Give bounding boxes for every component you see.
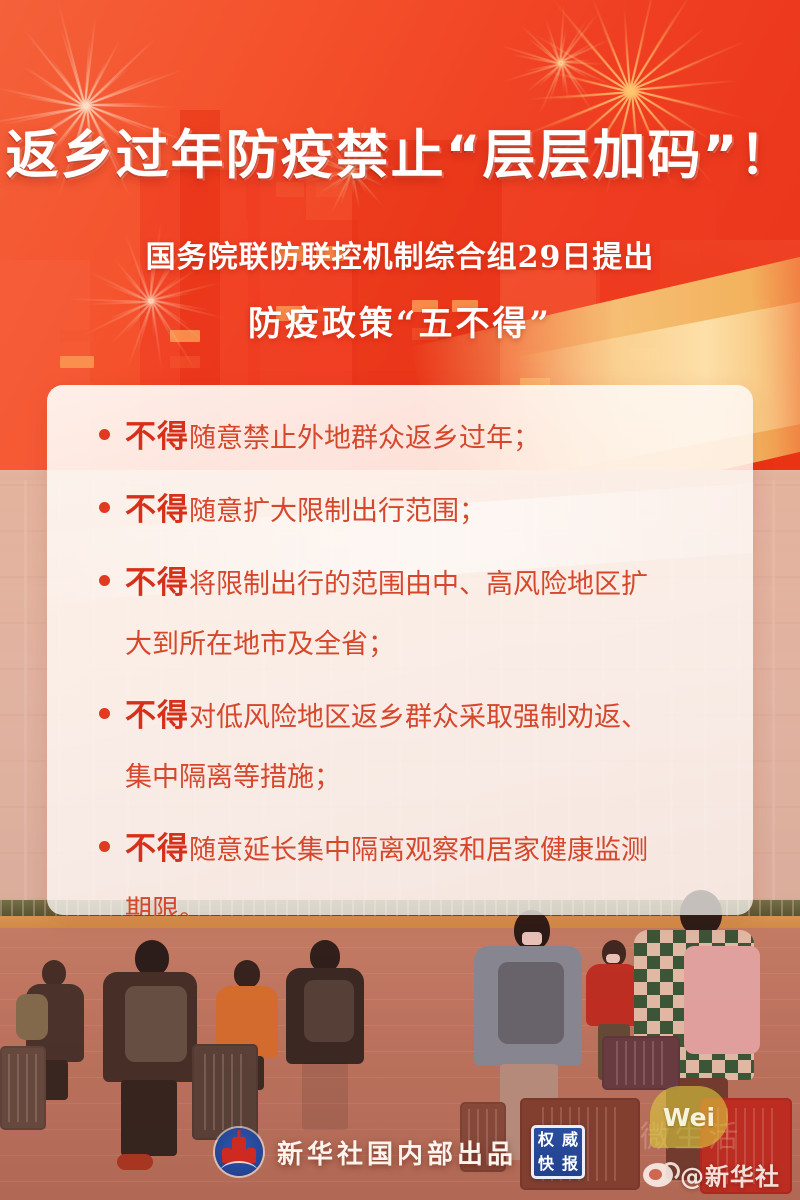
policy-line: 不得将限制出行的范围由中、高风险地区扩 [125, 553, 737, 615]
policy-line: 期限。 [125, 881, 737, 915]
subtitle-line-2: 防疫政策“五不得” [0, 296, 800, 345]
subtitle-line-1: 国务院联防联控机制综合组29日提出 [0, 232, 800, 276]
seal-char: 快 [538, 1156, 554, 1172]
policy-emphasis: 不得 [125, 492, 189, 528]
policy-text: 对低风险地区返乡群众采取强制劝返、 [189, 702, 648, 733]
policy-line: 集中隔离等措施； [125, 748, 737, 808]
policy-emphasis: 不得 [125, 698, 189, 734]
seal-char: 报 [562, 1156, 578, 1172]
bullet-dot-icon [99, 575, 110, 586]
policy-text: 随意禁止外地群众返乡过年； [189, 423, 540, 454]
policy-item: 不得随意扩大限制出行范围； [73, 480, 737, 542]
policy-item: 不得随意延长集中隔离观察和居家健康监测期限。 [73, 819, 737, 915]
policy-text: 将限制出行的范围由中、高风险地区扩 [189, 569, 648, 600]
policy-emphasis: 不得 [125, 831, 189, 867]
bullet-dot-icon [99, 708, 110, 719]
policy-line: 不得对低风险地区返乡群众采取强制劝返、 [125, 686, 737, 748]
authority-express-seal-icon: 权威快报 [531, 1125, 585, 1179]
policy-item: 不得将限制出行的范围由中、高风险地区扩大到所在地市及全省； [73, 553, 737, 675]
weibo-watermark: @新华社 [643, 1157, 780, 1192]
policy-item: 不得对低风险地区返乡群众采取强制劝返、集中隔离等措施； [73, 686, 737, 808]
policy-line: 不得随意延长集中隔离观察和居家健康监测 [125, 819, 737, 881]
policy-list: 不得随意禁止外地群众返乡过年；不得随意扩大限制出行范围；不得将限制出行的范围由中… [73, 407, 737, 915]
policy-emphasis: 不得 [125, 419, 189, 455]
weibo-logo-icon [643, 1163, 673, 1187]
seal-char: 权 [538, 1132, 554, 1148]
bullet-dot-icon [99, 429, 110, 440]
weibo-handle: @新华社 [680, 1157, 780, 1192]
policy-line: 大到所在地市及全省； [125, 615, 737, 675]
policy-emphasis: 不得 [125, 565, 189, 601]
page-title: 返乡过年防疫禁止“层层加码”！ [0, 128, 800, 184]
policy-text: 期限。 [125, 895, 206, 915]
policy-line: 不得随意扩大限制出行范围； [125, 480, 737, 542]
policy-card: 不得随意禁止外地群众返乡过年；不得随意扩大限制出行范围；不得将限制出行的范围由中… [47, 385, 753, 915]
policy-line: 不得随意禁止外地群众返乡过年； [125, 407, 737, 469]
title-block: 返乡过年防疫禁止“层层加码”！ 国务院联防联控机制综合组29日提出 防疫政策“五… [0, 0, 800, 345]
policy-item: 不得随意禁止外地群众返乡过年； [73, 407, 737, 469]
xinhua-emblem-icon [215, 1128, 263, 1176]
bullet-dot-icon [99, 502, 110, 513]
poster-root: 返乡过年防疫禁止“层层加码”！ 国务院联防联控机制综合组29日提出 防疫政策“五… [0, 0, 800, 1200]
policy-text: 随意扩大限制出行范围； [189, 496, 486, 527]
policy-text: 集中隔离等措施； [125, 762, 341, 793]
policy-text: 大到所在地市及全省； [125, 629, 395, 660]
seal-char: 威 [562, 1132, 578, 1148]
policy-text: 随意延长集中隔离观察和居家健康监测 [189, 835, 648, 866]
producer-text: 新华社国内部出品 [277, 1134, 517, 1171]
bullet-dot-icon [99, 841, 110, 852]
